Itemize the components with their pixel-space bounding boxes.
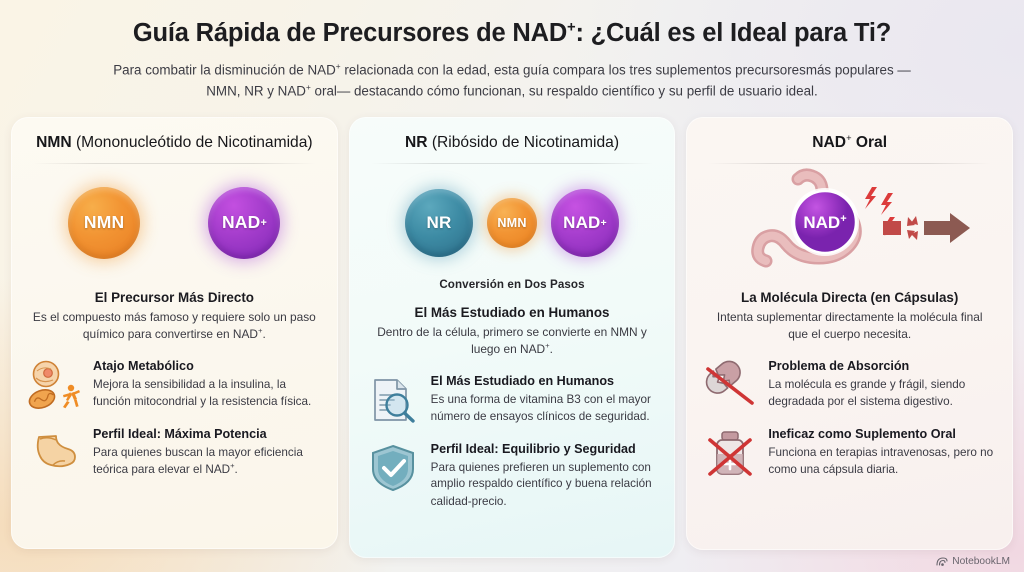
flexed-bicep-icon (27, 426, 83, 480)
feature-heading: El Más Estudiado en Humanos (431, 374, 660, 390)
card-nad-oral-features: Problema de Absorción La molécula es gra… (702, 358, 997, 480)
card-nmn-lead-title: El Precursor Más Directo (31, 290, 318, 305)
cell-mitochondria-runner-icon (27, 358, 83, 412)
card-nr-full: (Ribósido de Nicotinamida) (428, 134, 620, 151)
molecule-nmn-label: NMN (84, 212, 124, 233)
feature-body: Mejora la sensibilidad a la insulina, la… (93, 377, 322, 410)
comparison-cards: NMN (Mononucleótido de Nicotinamida) NMN… (11, 117, 1013, 558)
feature-body-a: Funciona en terapias intravenosas, pero … (768, 446, 993, 476)
broken-capsule-crossed-icon (702, 358, 758, 412)
stomach-degradation-illustration: NAD+ (720, 165, 980, 281)
feature-body-a: La molécula es grande y frágil, siendo d… (768, 378, 965, 408)
molecule-nr: NR (405, 189, 473, 257)
vial-crossed-icon (702, 426, 758, 480)
card-nr-features: El Más Estudiado en Humanos Es una forma… (365, 373, 660, 509)
notebooklm-label: NotebookLM (952, 556, 1010, 567)
card-nmn-abbr: NMN (36, 134, 72, 151)
molecule-nad: NAD+ (551, 189, 619, 257)
feature-body-a: Para quienes buscan la mayor eficiencia … (93, 446, 303, 476)
card-nr-lead-body-a: Dentro de la célula, primero se conviert… (377, 325, 647, 356)
card-nr-lead-title: El Más Estudiado en Humanos (369, 305, 656, 320)
feature-body-b: . (235, 463, 238, 476)
feature-text: Perfil Ideal: Equilibrio y Seguridad Par… (431, 441, 660, 509)
feature-heading: Perfil Ideal: Equilibrio y Seguridad (431, 442, 660, 458)
svg-text:NAD+: NAD+ (803, 213, 846, 232)
page-title: Guía Rápida de Precursores de NAD+: ¿Cuá… (56, 18, 968, 49)
card-nad-oral-full: Oral (852, 134, 888, 151)
card-nad-oral-abbr: NAD (812, 134, 846, 151)
notebooklm-watermark: NotebookLM (936, 556, 1010, 567)
molecule-nad: NAD+ (208, 187, 280, 259)
feature-text: El Más Estudiado en Humanos Es una forma… (431, 373, 660, 425)
feature-item: Perfil Ideal: Equilibrio y Seguridad Par… (365, 441, 660, 509)
card-nmn-lead-body-a: Es el compuesto más famoso y requiere so… (33, 310, 316, 341)
feature-heading: Problema de Absorción (768, 359, 997, 375)
card-nad-oral-lead: La Molécula Directa (en Cápsulas) Intent… (702, 282, 997, 345)
card-nr-lead-body-b: . (550, 342, 553, 356)
feature-body: Es una forma de vitamina B3 con el mayor… (431, 392, 660, 425)
card-nmn-features: Atajo Metabólico Mejora la sensibilidad … (27, 358, 322, 480)
card-nmn-diagram: NMN NAD+ (27, 164, 322, 282)
card-nr: NR (Ribósido de Nicotinamida) NR NMN NAD… (349, 117, 676, 558)
subtitle-line2-b: oral— destacando cómo funcionan, su resp… (311, 83, 818, 98)
feature-item: Perfil Ideal: Máxima Potencia Para quien… (27, 426, 322, 480)
subtitle-line1-a: Para combatir la disminución de NAD (113, 62, 336, 77)
feature-body-a: Es una forma de vitamina B3 con el mayor… (431, 393, 651, 423)
card-nr-lead-body: Dentro de la célula, primero se conviert… (369, 324, 656, 358)
molecule-nad-sup: + (601, 217, 607, 229)
card-nr-diagram: NR NMN NAD+ (365, 164, 660, 282)
feature-item: Atajo Metabólico Mejora la sensibilidad … (27, 358, 322, 412)
card-nad-oral-lead-body-a: Intenta suplementar directamente la molé… (717, 310, 983, 341)
card-nmn-full: (Mononucleótido de Nicotinamida) (72, 134, 313, 151)
card-nad-oral-lead-title: La Molécula Directa (en Cápsulas) (706, 290, 993, 305)
feature-body: Para quienes prefieren un suplemento con… (431, 460, 660, 509)
card-nr-lead: El Más Estudiado en Humanos Dentro de la… (365, 297, 660, 360)
card-nmn-title: NMN (Mononucleótido de Nicotinamida) (27, 131, 322, 163)
page-subtitle: Para combatir la disminución de NAD+ rel… (97, 60, 927, 102)
header: Guía Rápida de Precursores de NAD+: ¿Cuá… (0, 0, 1024, 102)
feature-body-a: Mejora la sensibilidad a la insulina, la… (93, 378, 311, 408)
feature-text: Atajo Metabólico Mejora la sensibilidad … (93, 358, 322, 410)
feature-body: Para quienes buscan la mayor eficiencia … (93, 445, 322, 478)
molecule-nad-label: NAD (222, 212, 261, 233)
molecule-nmn-label: NMN (497, 216, 526, 230)
subtitle-line1-b: relacionada con la edad, esta guía compa… (341, 62, 806, 77)
feature-item: El Más Estudiado en Humanos Es una forma… (365, 373, 660, 427)
shield-check-icon (365, 441, 421, 495)
molecule-nad-sup: + (260, 217, 267, 229)
card-nmn: NMN (Mononucleótido de Nicotinamida) NMN… (11, 117, 338, 549)
card-nad-oral: NAD+ Oral (686, 117, 1013, 550)
card-nmn-lead: El Precursor Más Directo Es el compuesto… (27, 282, 322, 345)
molecule-nad-label: NAD (563, 213, 600, 233)
card-nmn-lead-body-b: . (263, 327, 266, 341)
feature-text: Perfil Ideal: Máxima Potencia Para quien… (93, 426, 322, 478)
feature-heading: Atajo Metabólico (93, 359, 322, 375)
molecule-nmn: NMN (487, 198, 537, 248)
card-nad-oral-title: NAD+ Oral (702, 131, 997, 163)
feature-text: Ineficaz como Suplemento Oral Funciona e… (768, 426, 997, 478)
feature-heading: Perfil Ideal: Máxima Potencia (93, 427, 322, 443)
feature-body: Funciona en terapias intravenosas, pero … (768, 445, 997, 478)
card-nad-oral-diagram: NAD+ (702, 164, 997, 282)
infographic-page: Guía Rápida de Precursores de NAD+: ¿Cuá… (0, 0, 1024, 572)
notebooklm-logo-icon (936, 556, 948, 567)
feature-body: La molécula es grande y frágil, siendo d… (768, 377, 997, 410)
feature-item: Problema de Absorción La molécula es gra… (702, 358, 997, 412)
title-part-2: : ¿Cuál es el Ideal para Ti? (575, 19, 891, 47)
card-nad-oral-lead-body: Intenta suplementar directamente la molé… (706, 309, 993, 343)
feature-item: Ineficaz como Suplemento Oral Funciona e… (702, 426, 997, 480)
card-nmn-lead-body: Es el compuesto más famoso y requiere so… (31, 309, 318, 343)
feature-text: Problema de Absorción La molécula es gra… (768, 358, 997, 410)
feature-body-a: Para quienes prefieren un suplemento con… (431, 461, 652, 507)
card-nr-abbr: NR (405, 134, 428, 151)
title-part-1: Guía Rápida de Precursores de NAD (133, 19, 567, 47)
feature-heading: Ineficaz como Suplemento Oral (768, 427, 997, 443)
molecule-nmn: NMN (68, 187, 140, 259)
molecule-nr-label: NR (427, 213, 452, 233)
document-magnifier-icon (365, 373, 421, 427)
card-nr-title: NR (Ribósido de Nicotinamida) (365, 131, 660, 163)
